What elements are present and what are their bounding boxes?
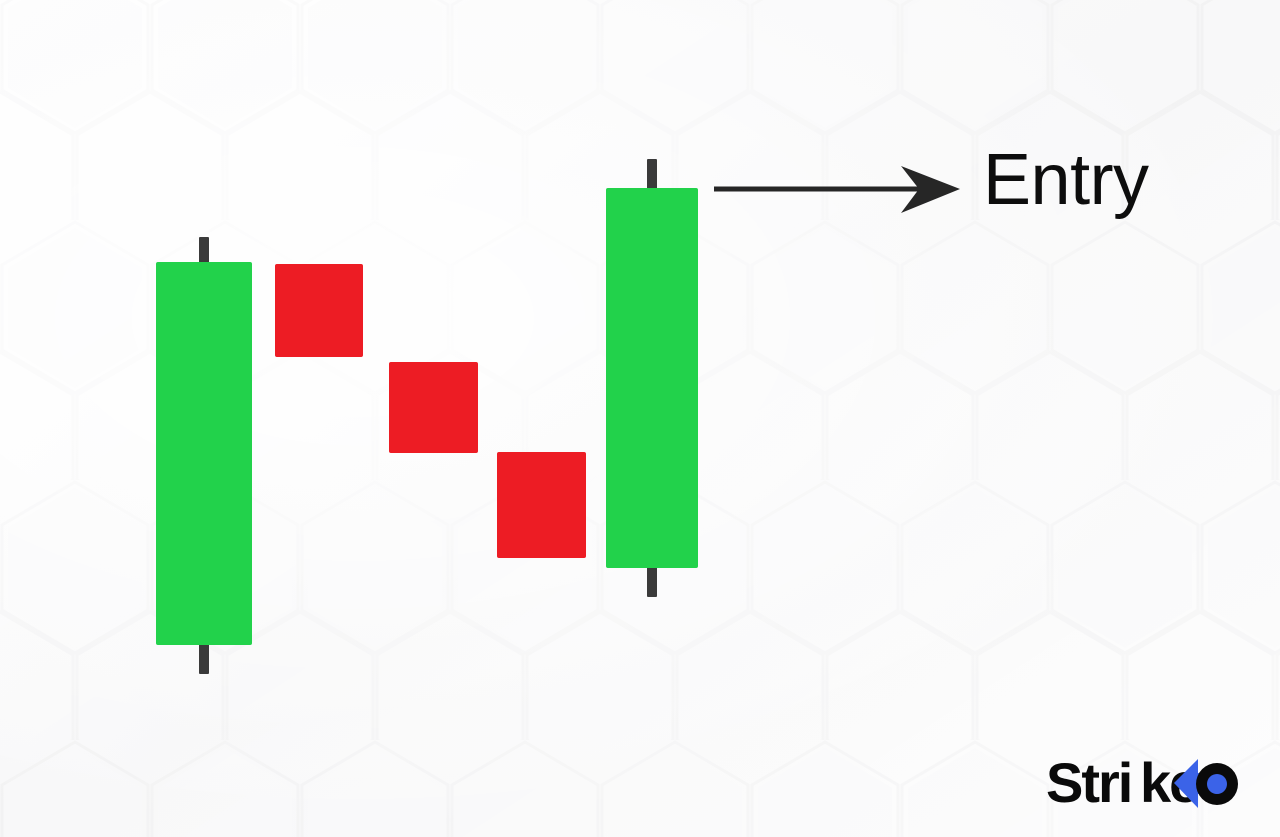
entry-annotation: Entry [705,150,1185,240]
strike-logo[interactable]: Stri ke [1046,753,1242,815]
strike-logo-wordmark: Stri ke [1046,753,1238,814]
candle-4-body [497,452,586,558]
candle-5-body [606,188,698,568]
candle-3-body [389,362,478,453]
candle-1-body [156,262,252,645]
svg-text:Stri: Stri [1046,753,1131,814]
candle-2-body [275,264,363,357]
entry-arrow-icon [714,166,960,213]
illustration-canvas: Entry Stri ke [0,0,1280,837]
candlestick-chart [0,0,1280,837]
entry-label: Entry [983,144,1149,216]
